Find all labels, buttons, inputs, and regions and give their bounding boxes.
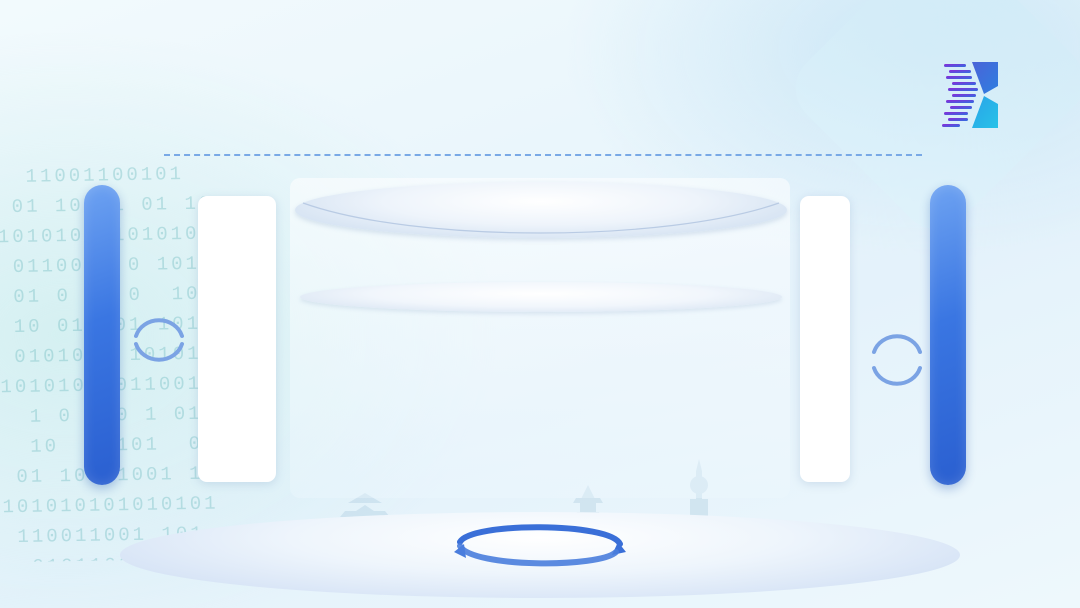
data-space-arc-icon [430,522,650,572]
cycle-arrow-icon [128,302,190,376]
enterprise-cycle [866,322,928,396]
service-bottom-labels [300,284,782,324]
scenario-nav [150,130,930,158]
x-gradient-logo-icon [932,56,1008,134]
mcp-hub-panel [800,196,850,482]
cycle-arrow-icon [866,322,928,396]
left-pill-knowledge-asset[interactable] [84,185,120,485]
brand-logo [926,56,1008,134]
nav-divider [164,154,922,156]
knowledge-governance-flow [222,200,272,478]
knowledge-cycle [128,302,190,376]
right-pill-enterprise-systems[interactable] [930,185,966,485]
